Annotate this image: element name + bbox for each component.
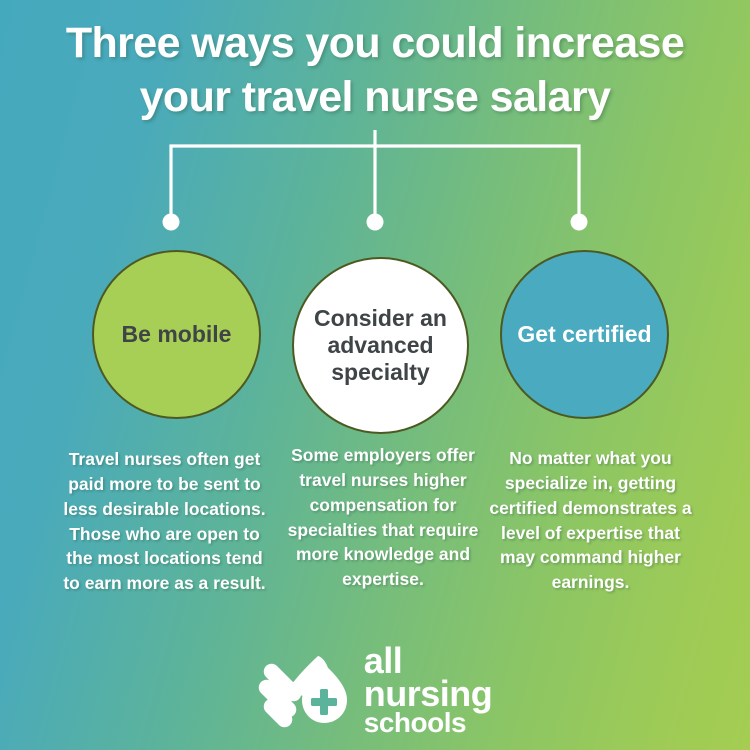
step-circle-label-advanced-specialty: Consider an advanced specialty bbox=[294, 305, 467, 386]
step-circle-label-get-certified: Get certified bbox=[505, 321, 663, 348]
brand-logo: all nursing schools bbox=[0, 640, 750, 740]
page-title-line-1: Three ways you could increase bbox=[0, 16, 750, 70]
connector-dot-2 bbox=[367, 214, 384, 231]
connector-dot-1 bbox=[163, 214, 180, 231]
step-description-get-certified: No matter what you specialize in, gettin… bbox=[487, 446, 694, 595]
connector-bracket bbox=[0, 130, 750, 250]
step-circle-label-be-mobile: Be mobile bbox=[110, 321, 244, 348]
step-circle-be-mobile[interactable]: Be mobile bbox=[92, 250, 261, 419]
step-description-be-mobile: Travel nurses often get paid more to be … bbox=[62, 447, 267, 596]
infographic-canvas: Three ways you could increase your trave… bbox=[0, 0, 750, 750]
step-circle-advanced-specialty[interactable]: Consider an advanced specialty bbox=[292, 257, 469, 434]
brand-logo-wordmark: all nursing schools bbox=[364, 644, 493, 736]
brand-logo-line-3: schools bbox=[364, 710, 493, 736]
steps-description-row: Travel nurses often get paid more to be … bbox=[0, 440, 750, 640]
page-title: Three ways you could increase your trave… bbox=[0, 16, 750, 124]
step-description-advanced-specialty: Some employers offer travel nurses highe… bbox=[283, 443, 483, 592]
brand-logo-line-2: nursing bbox=[364, 677, 493, 710]
connector-dot-3 bbox=[571, 214, 588, 231]
page-title-line-2: your travel nurse salary bbox=[0, 70, 750, 124]
step-circle-get-certified[interactable]: Get certified bbox=[500, 250, 669, 419]
hand-heart-medical-cross-icon bbox=[258, 650, 350, 730]
